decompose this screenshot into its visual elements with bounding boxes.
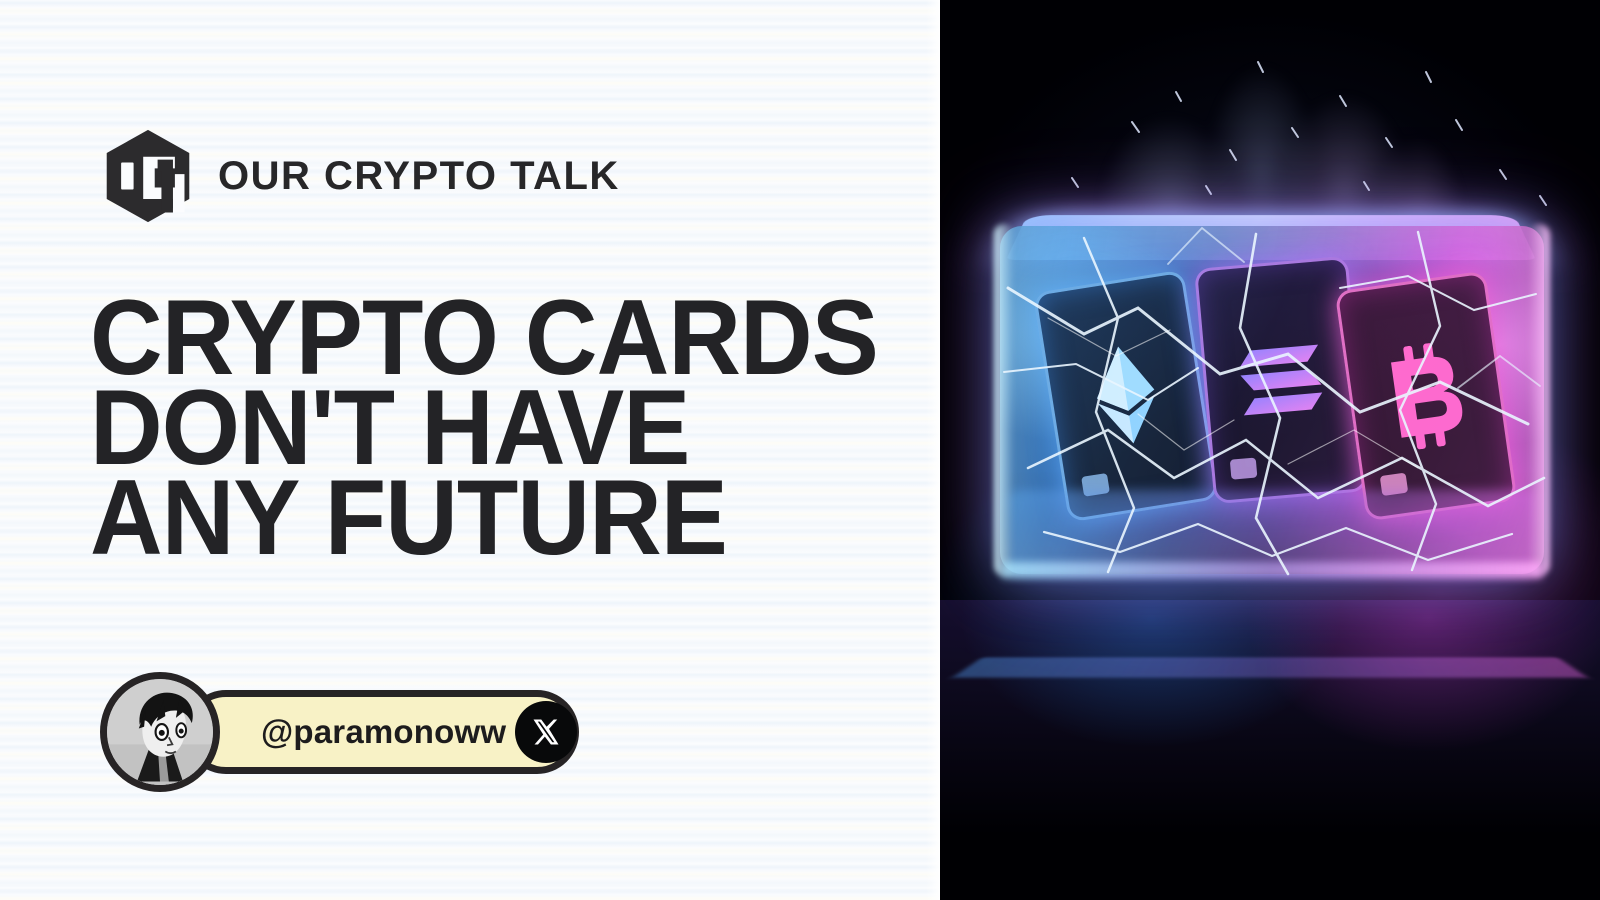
brand-lockup[interactable]: OUR CRYPTO TALK <box>100 128 620 224</box>
bitcoin-icon <box>1377 339 1475 454</box>
avatar <box>100 672 220 792</box>
brand-name-text: OUR CRYPTO TALK <box>218 154 620 199</box>
hexagon-oct-logo-icon <box>100 128 196 224</box>
poster-canvas: OUR CRYPTO TALK CRYPTO CARDS DON'T HAVE … <box>0 0 1600 900</box>
anime-character-avatar-icon <box>107 679 213 785</box>
left-content-panel: OUR CRYPTO TALK CRYPTO CARDS DON'T HAVE … <box>0 0 940 900</box>
headline-line-3: ANY FUTURE <box>90 472 878 562</box>
ice-edge-right-highlight <box>1528 224 1550 576</box>
handle-pill[interactable]: @paramonoww <box>184 690 579 774</box>
bitcoin-card <box>1335 271 1518 522</box>
handle-text: @paramonoww <box>261 713 506 751</box>
panel-edge-fade <box>926 0 940 900</box>
ethereum-icon <box>1085 339 1166 452</box>
solana-icon <box>1234 340 1328 419</box>
page-title: CRYPTO CARDS DON'T HAVE ANY FUTURE <box>90 292 878 562</box>
x-twitter-icon[interactable] <box>515 701 577 763</box>
artwork-panel <box>940 0 1600 900</box>
ice-edge-bottom-highlight <box>1002 562 1542 578</box>
card-chip <box>1230 458 1258 480</box>
social-handle-badge[interactable]: @paramonoww <box>100 668 579 796</box>
ice-block <box>988 168 1556 620</box>
reflective-floor <box>940 600 1600 900</box>
ice-edge-left-highlight <box>994 224 1014 576</box>
